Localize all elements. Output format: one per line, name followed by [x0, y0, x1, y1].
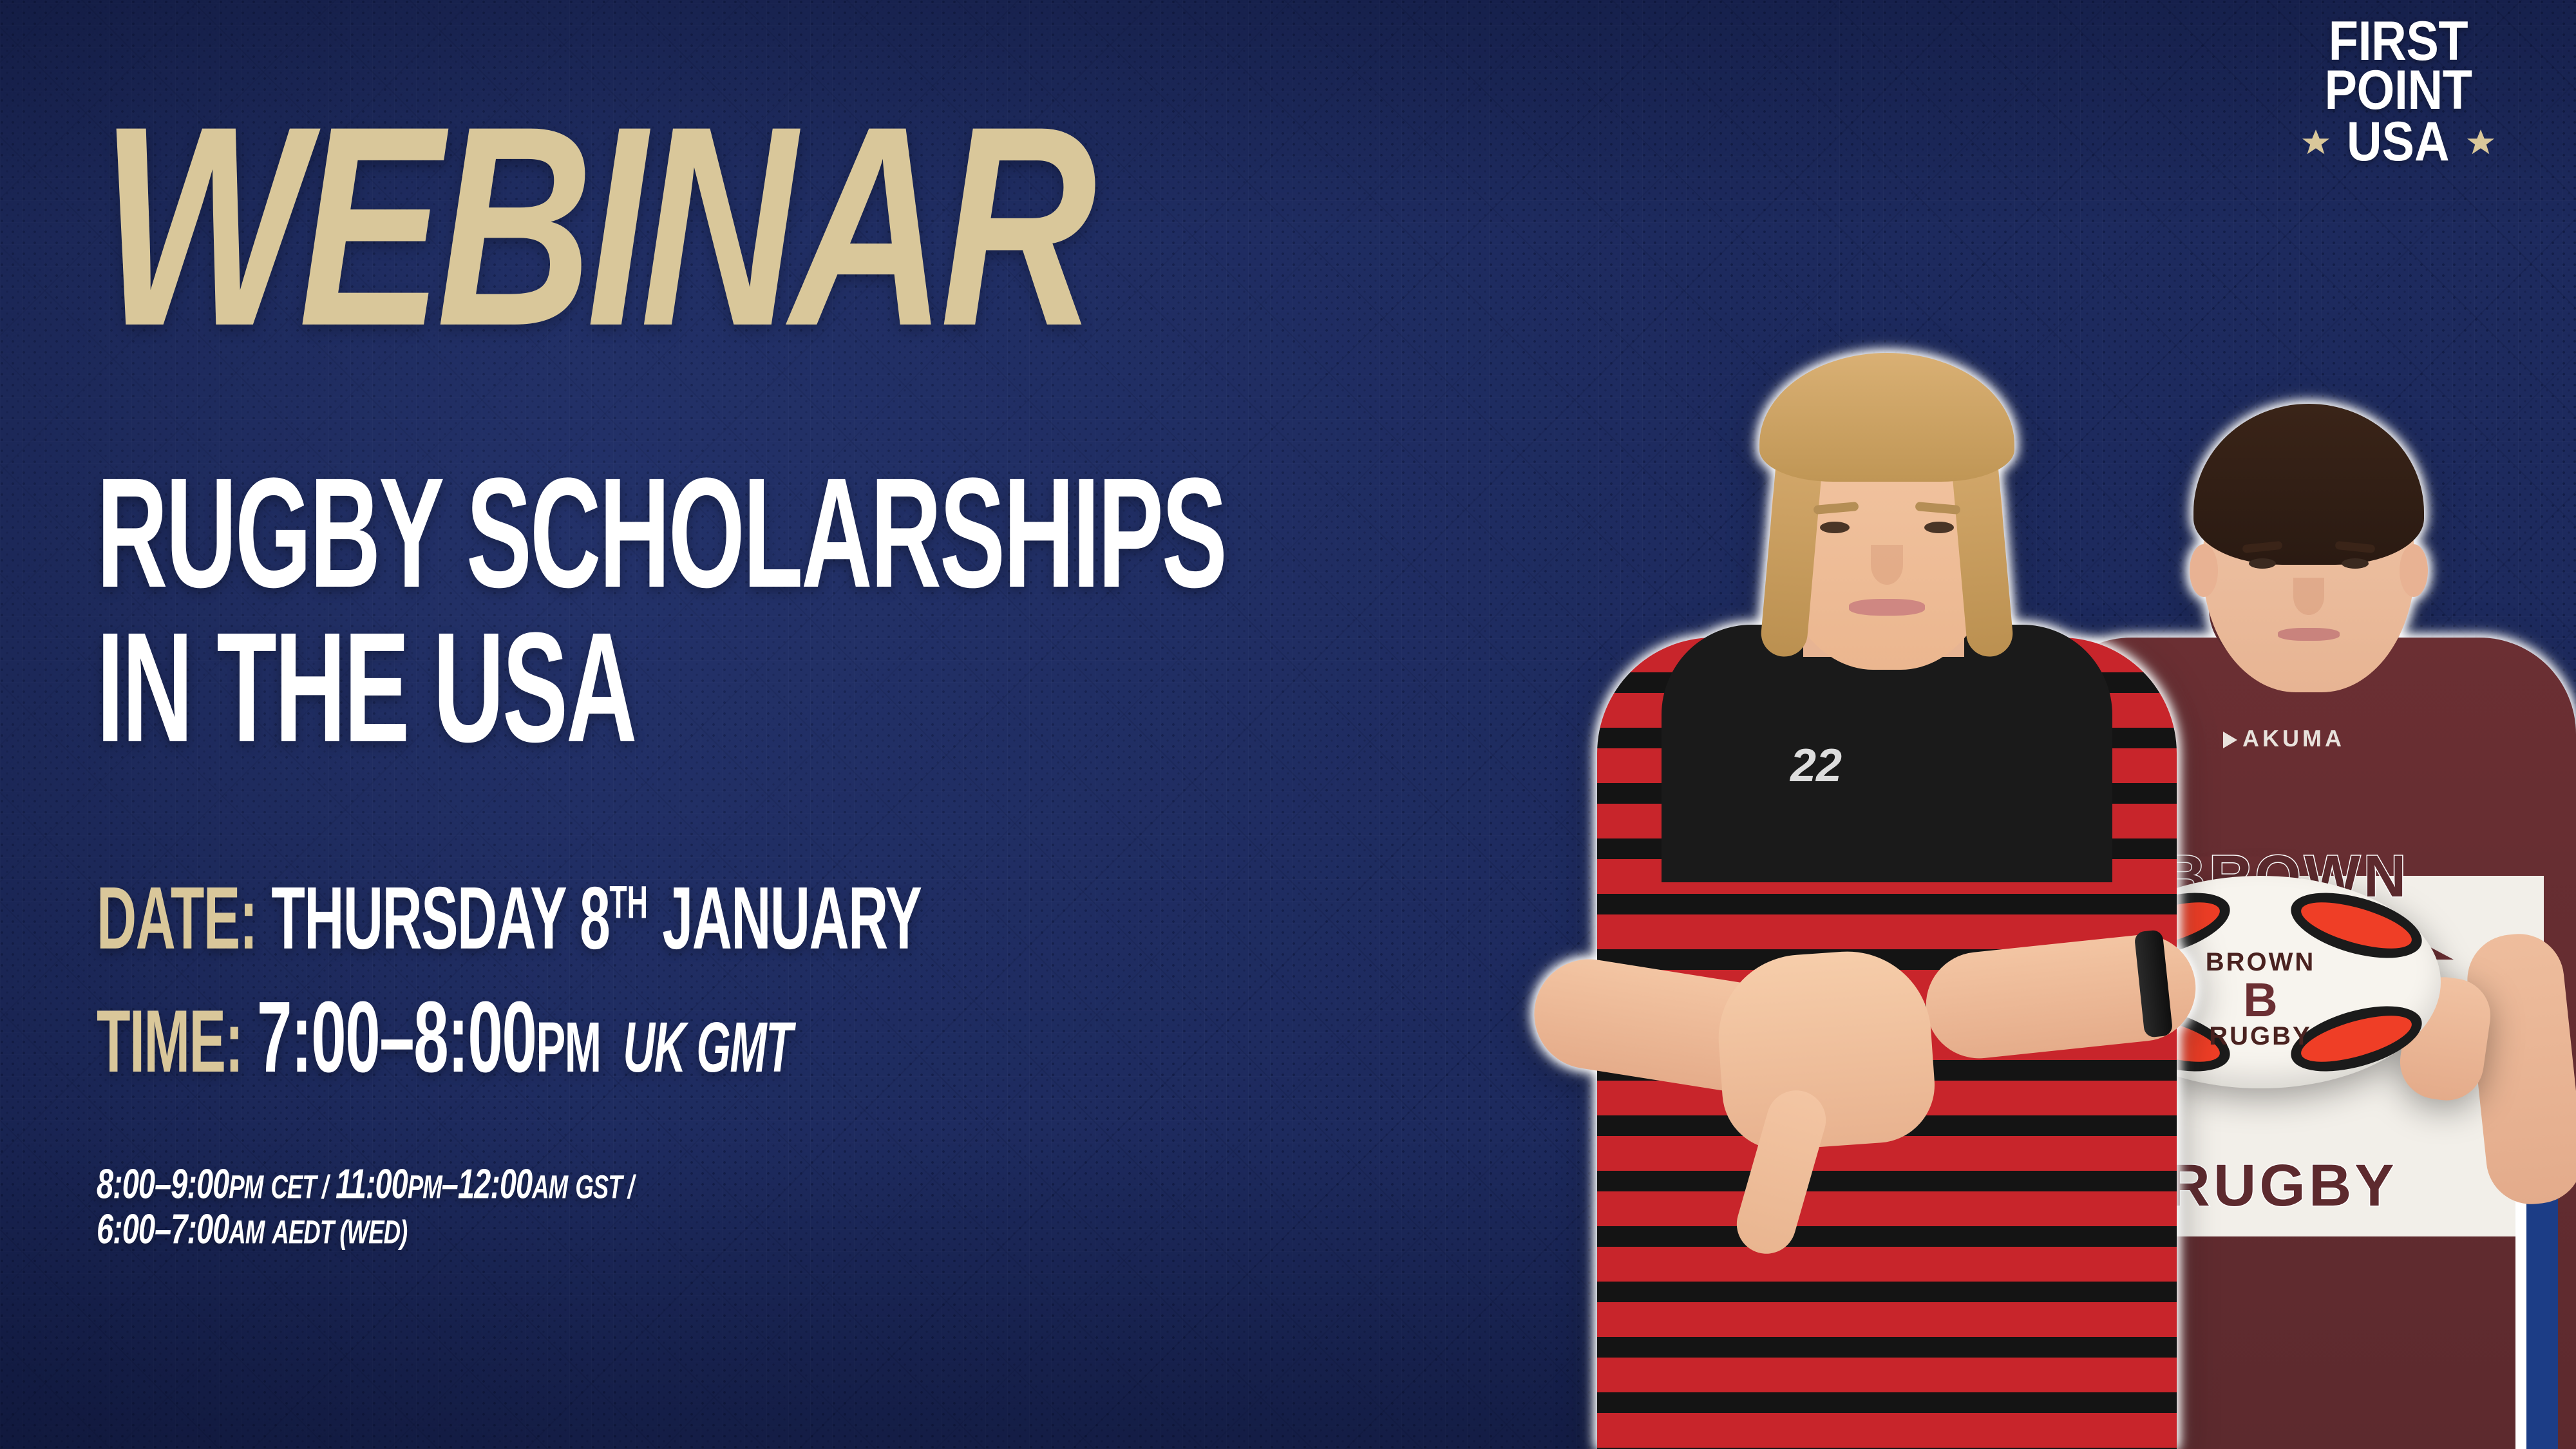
- male-eye-left: [2249, 558, 2276, 569]
- tz2-aedt-meridiem: AM: [229, 1214, 264, 1251]
- male-eye-right: [2342, 558, 2369, 569]
- athlete-photo-group: AKUMA BROWN RUGBY: [1468, 122, 2576, 1449]
- female-nose: [1871, 545, 1903, 585]
- webinar-promo-poster: FIRST POINT USA WEBINAR RUGBY SCHOLARSHI…: [0, 0, 2576, 1449]
- female-hair: [1759, 353, 2014, 482]
- logo-line-first: FIRST: [2279, 18, 2517, 66]
- male-ear-right: [2400, 544, 2428, 597]
- copy-column: WEBINAR RUGBY SCHOLARSHIPS IN THE USA DA…: [97, 0, 1513, 1449]
- tz2-aedt-zone: AEDT (WED): [272, 1214, 407, 1251]
- female-eye-right: [1924, 522, 1954, 533]
- time-value: 7:00–8:00: [257, 980, 536, 1094]
- tz1-cet-zone: CET /: [270, 1169, 328, 1206]
- female-rugby-player-photo: 22: [1558, 238, 2215, 1449]
- event-date-row: DATE: THURSDAY 8TH JANUARY: [97, 868, 921, 970]
- female-jersey-number: 22: [1790, 739, 1842, 792]
- akuma-brand-text: AKUMA: [2242, 725, 2345, 752]
- tz1-gst-end: –12:00: [442, 1160, 532, 1207]
- male-nose: [2293, 578, 2324, 615]
- female-head: [1771, 367, 2003, 670]
- tz1-gst-zone: GST /: [575, 1169, 634, 1206]
- tz1-gst-start-meridiem: PM: [408, 1169, 442, 1206]
- tz1-cet-time: 8:00–9:00: [97, 1160, 229, 1207]
- event-time-row: TIME: 7:00–8:00PM UK GMT: [97, 979, 792, 1095]
- tz1-gst-end-meridiem: AM: [532, 1169, 567, 1206]
- female-eye-left: [1820, 522, 1850, 533]
- akuma-triangle-icon: [2223, 732, 2237, 748]
- time-label: TIME:: [97, 992, 243, 1092]
- male-head: [2202, 415, 2415, 692]
- page-title-line-2: IN THE USA: [97, 615, 635, 759]
- date-value-month: JANUARY: [662, 869, 921, 969]
- male-mouth: [2278, 628, 2340, 641]
- time-zone-label: UK GMT: [623, 1008, 791, 1087]
- date-value-prefix: THURSDAY 8: [271, 869, 609, 969]
- date-ordinal-suffix: TH: [609, 878, 648, 928]
- tz1-gst-start: 11:00: [336, 1160, 408, 1207]
- logo-line-point: POINT: [2279, 67, 2517, 115]
- date-label: DATE:: [97, 869, 257, 969]
- timezone-line-2: 6:00–7:00AM AEDT (WED): [97, 1204, 407, 1253]
- page-title-line-1: RUGBY SCHOLARSHIPS: [97, 460, 1226, 605]
- female-mouth: [1849, 599, 1925, 616]
- male-hair: [2193, 404, 2424, 565]
- timezone-line-1: 8:00–9:00PM CET / 11:00PM–12:00AM GST /: [97, 1159, 634, 1208]
- time-meridiem: PM: [536, 1008, 600, 1087]
- tz2-aedt-time: 6:00–7:00: [97, 1205, 229, 1252]
- eyebrow-webinar: WEBINAR: [100, 84, 1090, 368]
- akuma-brand-logo: AKUMA: [2223, 725, 2345, 752]
- tz1-cet-meridiem: PM: [229, 1169, 263, 1206]
